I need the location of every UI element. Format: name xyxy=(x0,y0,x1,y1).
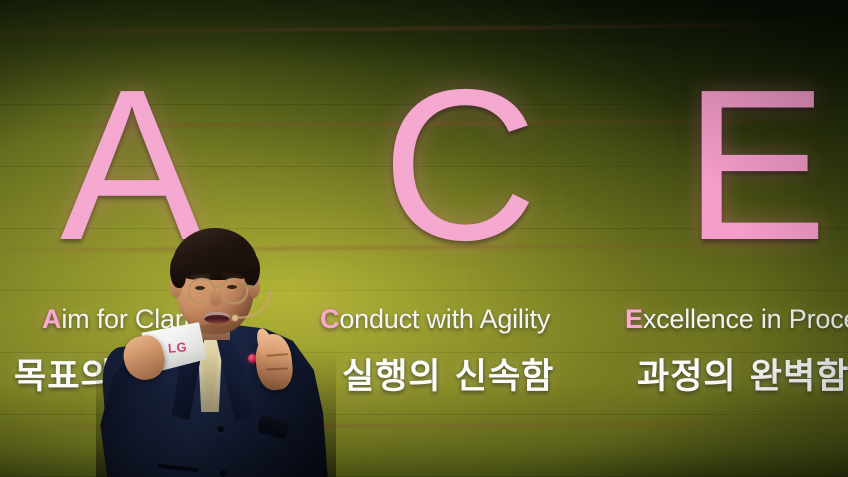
stage-photo: A C E Aim for Clarity 목표의 명확함 Conduct wi… xyxy=(0,0,848,477)
photo-vignette xyxy=(0,0,848,477)
